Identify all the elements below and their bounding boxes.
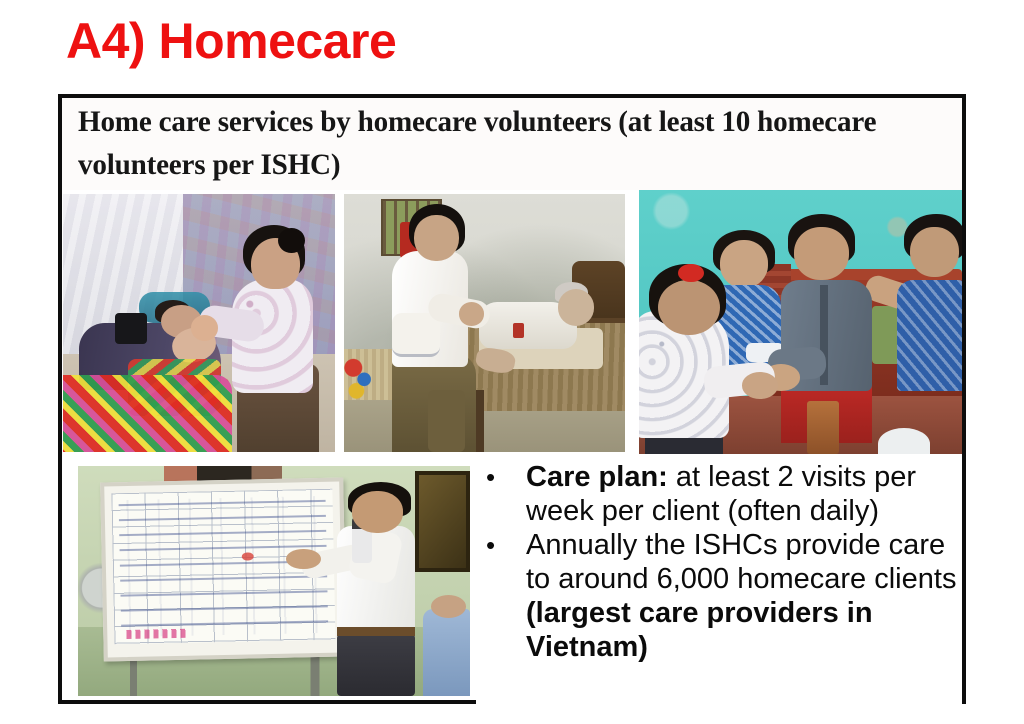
bullet-text-2: Annually the ISHCs provide care to aroun… [526,528,962,664]
p4-wall-frame [415,471,470,572]
content-frame: Home care services by homecare volunteer… [58,94,966,704]
p3-woman-blue-head [720,240,768,288]
bullet-text-1: Care plan: at least 2 visits per week pe… [526,460,962,528]
p4-chart-red-mark [241,552,253,561]
bullet-marker-icon: • [476,528,526,562]
p4-seated-person-body [423,609,470,696]
photo-presenter-flipchart [78,466,470,696]
p3-woman-white-hand [742,372,778,398]
photo-group-care-teal-room [639,190,962,454]
photo-collage-top-row [62,190,962,454]
p3-white-object [878,428,930,454]
p2-volunteer-head [414,215,459,261]
caption-band: Home care services by homecare volunteer… [62,98,962,190]
p2-elder-face [558,289,595,325]
list-item: • Annually the ISHCs provide care to aro… [476,528,962,664]
p2-volunteer-sleeve [392,313,440,357]
photo-volunteer-elderly-man-bed [344,194,625,452]
p4-presenter-head [352,491,403,532]
p2-elder-pocket [513,323,524,338]
list-item: • Care plan: at least 2 visits per week … [476,460,962,528]
p4-presenter-trousers [337,634,415,696]
caption-heading: Home care services by homecare volunteer… [78,100,928,186]
p4-presenter-belt [337,627,415,636]
p2-volunteer-hand [459,302,484,325]
photo-4-scene [78,466,470,696]
p1-volunteer-hand [191,315,218,341]
frame-border-right [962,94,966,704]
p2-colored-items [344,354,375,400]
photo-3-scene [639,190,962,454]
bullet-1-lead: Care plan: [526,461,668,493]
p1-patchwork-quilt [63,375,232,452]
bullet-list: • Care plan: at least 2 visits per week … [476,460,962,708]
photo-1-scene [63,194,335,452]
photo-2-scene [344,194,625,452]
p1-volunteer-hairbun [278,228,305,254]
p4-chart-pink-note [126,629,187,639]
photo-volunteer-bedside-care [63,194,335,452]
p4-seated-person-head [431,595,466,618]
bullet-2-tail: (largest care providers in Vietnam) [526,597,873,663]
p3-man-head [794,227,849,280]
bullet-2-text: Annually the ISHCs provide care to aroun… [526,529,956,595]
p3-clay-jar [807,401,839,454]
bullet-marker-icon: • [476,460,526,494]
p3-woman-white-head [658,280,719,335]
p3-right-person-head [910,227,958,277]
page-title: A4) Homecare [66,8,946,78]
frame-border-bottom [58,700,478,704]
p1-dark-object [115,313,148,344]
p2-volunteer-shin [428,390,465,452]
p3-red-hair-clip [678,264,704,282]
p3-right-person-shirt [897,280,962,391]
